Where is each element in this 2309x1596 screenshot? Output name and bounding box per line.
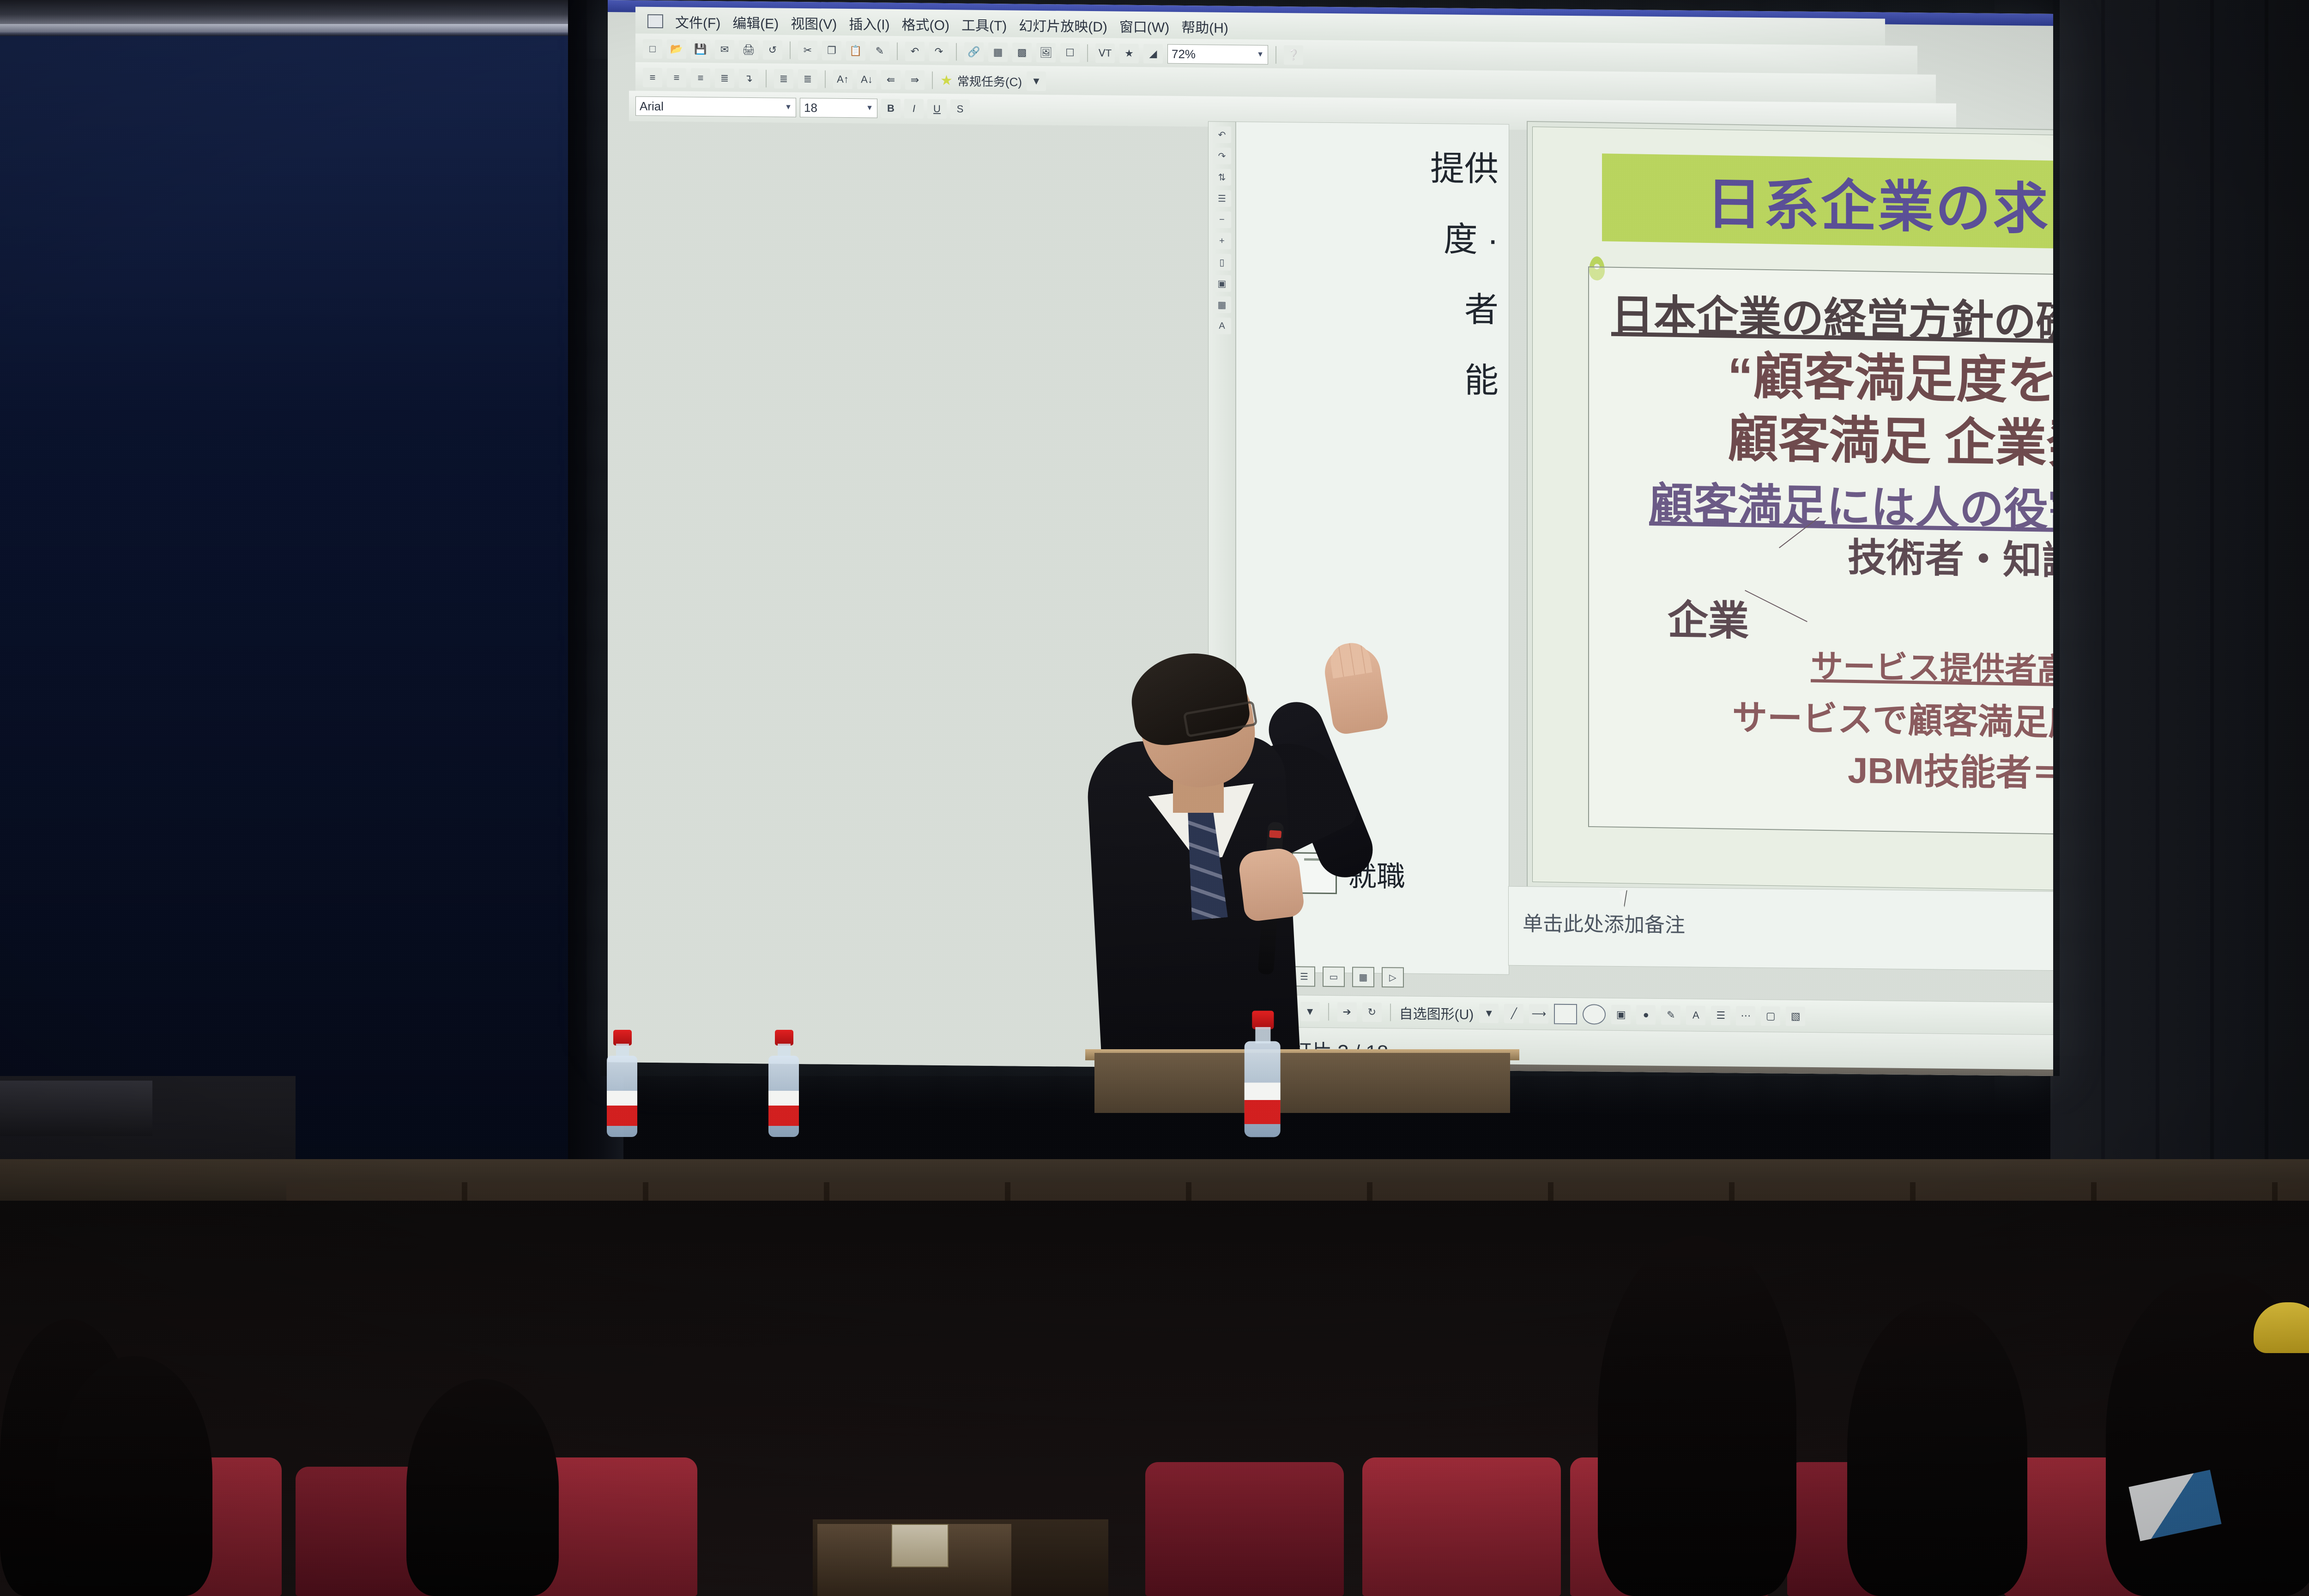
- toolbar-separator: [766, 70, 767, 87]
- font-size-combo[interactable]: 18 ▼: [800, 98, 877, 118]
- chevron-down-icon[interactable]: ▼: [780, 103, 792, 112]
- table: [1094, 1053, 1510, 1113]
- bottle-label: [768, 1091, 799, 1126]
- grid-icon[interactable]: ▦: [1213, 296, 1231, 313]
- oval-icon[interactable]: [1583, 1004, 1606, 1024]
- transition-icon[interactable]: ◢: [1143, 44, 1163, 63]
- autoshapes-menu-label[interactable]: 自选图形(U): [1399, 1002, 1474, 1023]
- common-tasks-label[interactable]: 常规任务(C): [957, 72, 1022, 90]
- outline-fragment-2: 度 ·: [1429, 213, 1499, 266]
- slide[interactable]: 日系企業の求める人財とは 日本企業の経営方針の礎 “顧客満足度を高める” 顧客満…: [1532, 127, 2053, 899]
- toolbar-separator: [897, 42, 898, 60]
- outline-fragment-4: 能: [1429, 354, 1499, 407]
- toolbar-separator: [1275, 46, 1276, 64]
- slide-line-5: 技術者・知識者: [1848, 526, 2053, 586]
- seat: [1362, 1457, 1561, 1596]
- toolbar-separator: [1390, 1004, 1391, 1021]
- water-bottle: [605, 1030, 639, 1136]
- dash-style-icon[interactable]: ⋯: [1736, 1006, 1755, 1025]
- increase-font-icon[interactable]: A↑: [833, 70, 852, 89]
- font-color-icon[interactable]: A: [1213, 318, 1231, 334]
- insert-picture-icon[interactable]: 🖼: [1036, 43, 1056, 62]
- decrease-font-icon[interactable]: A↓: [857, 70, 876, 89]
- table-icon[interactable]: ▦: [988, 42, 1008, 62]
- slide-line-7: サービス提供者高度なサービスの提供: [1811, 640, 2053, 695]
- line-style-icon[interactable]: ☰: [1711, 1006, 1730, 1025]
- align-left-icon[interactable]: ≡: [643, 68, 662, 87]
- slide-canvas[interactable]: 日系企業の求める人財とは 日本企業の経営方針の礎 “顧客満足度を高める” 顧客満…: [1527, 121, 2053, 905]
- zoom-combo[interactable]: 72% ▼: [1167, 44, 1268, 65]
- common-tasks-star-icon: ★: [940, 72, 953, 88]
- arrow-icon[interactable]: ⟶: [1529, 1004, 1548, 1023]
- print-icon[interactable]: 🖨: [739, 40, 758, 60]
- promote-icon[interactable]: ⇚: [881, 70, 901, 90]
- bottle-cap: [613, 1030, 632, 1046]
- textbox-icon[interactable]: ▯: [1213, 254, 1231, 271]
- outline-fragment-1: 提供: [1429, 142, 1499, 196]
- toolbar-separator: [825, 71, 826, 88]
- hyperlink-icon[interactable]: 🔗: [964, 42, 984, 61]
- bold-icon[interactable]: B: [881, 99, 901, 118]
- format-painter-icon[interactable]: ✎: [870, 41, 889, 60]
- audience-head: [1847, 1300, 2027, 1596]
- outline-fragment-3: 者: [1429, 283, 1499, 337]
- slide-line-3: 顧客満足 企業発展: [1728, 397, 2053, 478]
- chevron-down-icon[interactable]: ▼: [1252, 50, 1264, 59]
- shadow-icon[interactable]: S: [950, 99, 970, 119]
- font-name-value: Arial: [640, 99, 664, 113]
- audience-head: [1598, 1236, 1796, 1596]
- align-center-icon[interactable]: ≡: [667, 68, 686, 87]
- bottle-label: [1245, 1082, 1281, 1124]
- help-icon[interactable]: ❔: [1284, 45, 1303, 65]
- font-size-value: 18: [804, 101, 817, 115]
- menu-item-edit[interactable]: 编辑(E): [732, 12, 779, 33]
- slide-line-6: 企業: [1668, 587, 1749, 647]
- water-bottle: [1242, 1011, 1282, 1136]
- water-bottle: [767, 1030, 801, 1136]
- bottle-label: [607, 1091, 637, 1126]
- chevron-down-icon[interactable]: ▼: [1027, 72, 1046, 91]
- notes-pane[interactable]: 单击此处添加备注: [1508, 886, 2053, 973]
- cut-icon[interactable]: ✂: [798, 41, 817, 60]
- numbered-list-icon[interactable]: ≣: [774, 69, 793, 88]
- menu-item-insert[interactable]: 插入(I): [849, 13, 889, 34]
- slide-title: 日系企業の求める人財とは: [1706, 159, 2053, 250]
- table-placard: [891, 1524, 949, 1567]
- seat: [1145, 1462, 1344, 1596]
- curtain-top-light: [0, 24, 573, 36]
- layout-icon[interactable]: ▣: [1213, 275, 1231, 292]
- stage-curtain: [0, 32, 577, 1159]
- slide-line-9: JBM技能者＝企業が求める人財: [1848, 742, 2053, 801]
- line-spacing-icon[interactable]: ≣: [715, 68, 734, 88]
- menu-item-help[interactable]: 帮助(H): [1181, 16, 1228, 37]
- presenter: [1076, 637, 1372, 1099]
- toolbar-separator: [956, 43, 957, 60]
- bottle-cap: [1252, 1011, 1274, 1029]
- align-right-icon[interactable]: ≡: [691, 68, 710, 88]
- menu-item-window[interactable]: 窗口(W): [1119, 16, 1169, 36]
- email-icon[interactable]: ✉: [715, 40, 734, 59]
- slide-body-box: 日本企業の経営方針の礎 “顧客満足度を高める” 顧客満足 企業発展 → 顧客満足…: [1588, 266, 2053, 842]
- bottle-cap: [775, 1030, 793, 1046]
- menu-item-view[interactable]: 视图(V): [791, 12, 837, 33]
- line-color-icon[interactable]: ✎: [1661, 1005, 1680, 1025]
- font-name-combo[interactable]: Arial ▼: [635, 97, 796, 117]
- textbox-shape-icon[interactable]: ▣: [1611, 1005, 1631, 1024]
- copy-icon[interactable]: ❐: [822, 41, 841, 60]
- align-objects-icon[interactable]: ☰: [1213, 190, 1231, 207]
- audience-head: [406, 1379, 559, 1596]
- print-preview-icon[interactable]: ↺: [763, 40, 782, 60]
- animation-icon[interactable]: ★: [1119, 44, 1139, 63]
- toolbar-separator: [1087, 44, 1088, 62]
- save-icon[interactable]: 💾: [691, 40, 710, 59]
- menu-item-file[interactable]: 文件(F): [675, 11, 720, 32]
- line-icon[interactable]: ╱: [1504, 1004, 1523, 1023]
- fill-color-icon[interactable]: ●: [1636, 1005, 1656, 1024]
- chevron-down-icon[interactable]: ▼: [861, 104, 873, 112]
- outline-fragments: 提供 度 · 者 能: [1429, 142, 1499, 425]
- flip-icon[interactable]: ⇅: [1213, 169, 1231, 186]
- underline-icon[interactable]: U: [927, 99, 947, 119]
- shadow-style-icon[interactable]: ▢: [1761, 1006, 1780, 1026]
- rectangle-icon[interactable]: [1554, 1004, 1577, 1024]
- right-wall-panels: [2050, 0, 2309, 1182]
- paste-icon[interactable]: 📋: [846, 41, 865, 60]
- text-direction-icon[interactable]: ↴: [739, 69, 758, 88]
- rotate-right-icon[interactable]: ↷: [1213, 148, 1231, 164]
- presenter-mic-hand: [1237, 846, 1305, 923]
- menu-item-slideshow[interactable]: 幻灯片放映(D): [1019, 15, 1107, 36]
- demote-icon[interactable]: ⇛: [905, 70, 925, 90]
- italic-icon[interactable]: I: [904, 99, 924, 118]
- slide-title-band: 日系企業の求める人財とは: [1602, 153, 2053, 255]
- audience-head: [55, 1356, 212, 1596]
- notes-placeholder: 单击此处添加备注: [1523, 907, 1685, 938]
- insert-chart-icon[interactable]: ▩: [1012, 42, 1032, 62]
- minus-icon[interactable]: −: [1213, 212, 1231, 228]
- app-icon: [647, 14, 663, 28]
- toolbar-separator: [790, 42, 791, 59]
- format-text-icon[interactable]: ⅤT: [1095, 43, 1115, 63]
- font-color-picker-icon[interactable]: A: [1686, 1005, 1705, 1025]
- slideshow-view-icon[interactable]: ▷: [1382, 967, 1404, 987]
- bulleted-list-icon[interactable]: ≣: [798, 69, 817, 89]
- branch-line-lower: [1745, 590, 1807, 622]
- undo-icon[interactable]: ↶: [905, 42, 925, 61]
- zoom-value: 72%: [1172, 47, 1196, 61]
- open-folder-icon[interactable]: 📂: [667, 39, 686, 59]
- rotate-left-icon[interactable]: ↶: [1213, 127, 1231, 143]
- 3d-style-icon[interactable]: ▧: [1786, 1006, 1805, 1026]
- menu-item-format[interactable]: 格式(O): [902, 13, 949, 34]
- redo-icon[interactable]: ↷: [929, 42, 949, 61]
- new-slide-icon[interactable]: ☐: [1060, 43, 1080, 62]
- chevron-down-icon[interactable]: ▼: [1479, 1004, 1499, 1023]
- plus-icon[interactable]: +: [1213, 233, 1231, 249]
- menu-item-tools[interactable]: 工具(T): [961, 14, 1007, 35]
- new-file-icon[interactable]: □: [643, 39, 662, 59]
- photo-scene: 文件(F) 编辑(E) 视图(V) 插入(I) 格式(O) 工具(T) 幻灯片放…: [0, 0, 2309, 1596]
- toolbar-separator: [932, 72, 933, 89]
- stage-left-table: [0, 1081, 152, 1136]
